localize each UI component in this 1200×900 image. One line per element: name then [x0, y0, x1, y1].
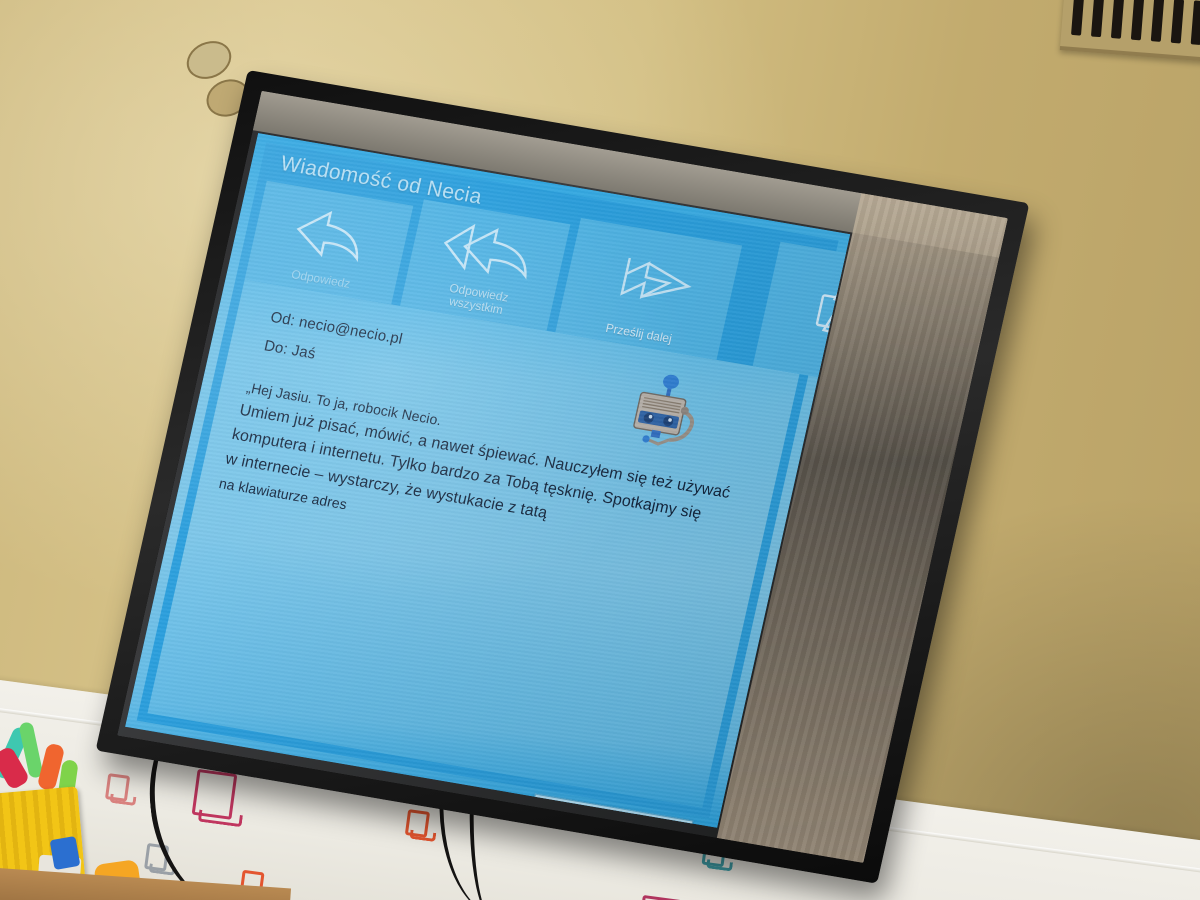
toy-item	[50, 836, 81, 870]
book-decor-icon	[637, 895, 683, 900]
forward-arrow-icon	[560, 218, 743, 341]
reply-arrow-icon	[249, 181, 413, 286]
book-decor-icon	[105, 773, 130, 802]
tv-screen-panel: Wiadomość od Necia Odpowiedz	[117, 91, 1008, 863]
necio-robot-mascot	[620, 369, 709, 456]
message-pane: Od: necio@necio.pl Do: Jaś „Hej Jasiu. T…	[147, 287, 797, 808]
book-decor-icon	[405, 809, 430, 838]
wall-mounted-tv: Wiadomość od Necia Odpowiedz	[96, 70, 1030, 884]
reply-all-arrow-icon	[407, 199, 570, 299]
